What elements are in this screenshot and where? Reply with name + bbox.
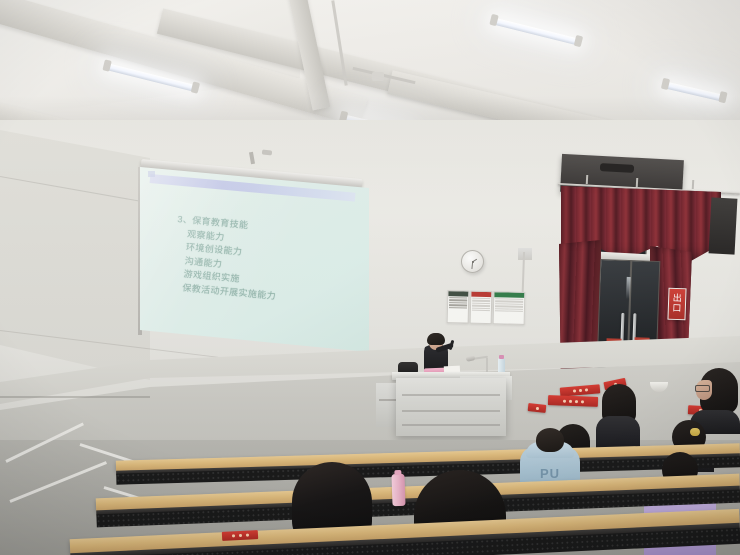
poster-body: [494, 297, 524, 324]
clock-icon: [461, 250, 484, 273]
projection-screen: 3、保育教育技能 观察能力 环境创设能力 沟通能力 游戏组织实施 保教活动开展实…: [140, 167, 369, 352]
glasses-icon: [695, 385, 710, 392]
poster-right: [493, 291, 525, 325]
wall-poster-group: [447, 290, 526, 325]
red-banner-piece: [548, 395, 598, 407]
clock-minute-hand: [471, 261, 473, 269]
slide-corner-mark: [148, 171, 155, 177]
ceiling-junction-box: [372, 72, 384, 81]
poster-middle: [470, 291, 493, 325]
poster-body: [471, 297, 491, 323]
slide-text-block: 3、保育教育技能 观察能力 环境创设能力 沟通能力 游戏组织实施 保教活动开展实…: [171, 213, 357, 310]
lecture-hall-photo: 3、保育教育技能 观察能力 环境创设能力 沟通能力 游戏组织实施 保教活动开展实…: [0, 0, 740, 555]
poster-left: [447, 290, 470, 324]
clock-center-pin: [472, 261, 474, 263]
exit-sign: 出 口: [667, 288, 686, 321]
wall-speaker: [709, 197, 738, 254]
red-pouch: [222, 530, 258, 541]
student-back-row: [596, 384, 640, 448]
screen-bracket: [262, 149, 272, 155]
lecture-podium: [396, 378, 506, 436]
exit-sign-char: 口: [672, 304, 681, 314]
exit-sign-char: 出: [672, 294, 681, 304]
fluorescent-light: [492, 17, 579, 45]
valance-vent: [600, 163, 634, 173]
hoodie-text: PU: [540, 466, 560, 481]
poster-body: [448, 296, 468, 322]
presenter-hair: [427, 333, 445, 345]
hair-clip: [690, 428, 700, 436]
